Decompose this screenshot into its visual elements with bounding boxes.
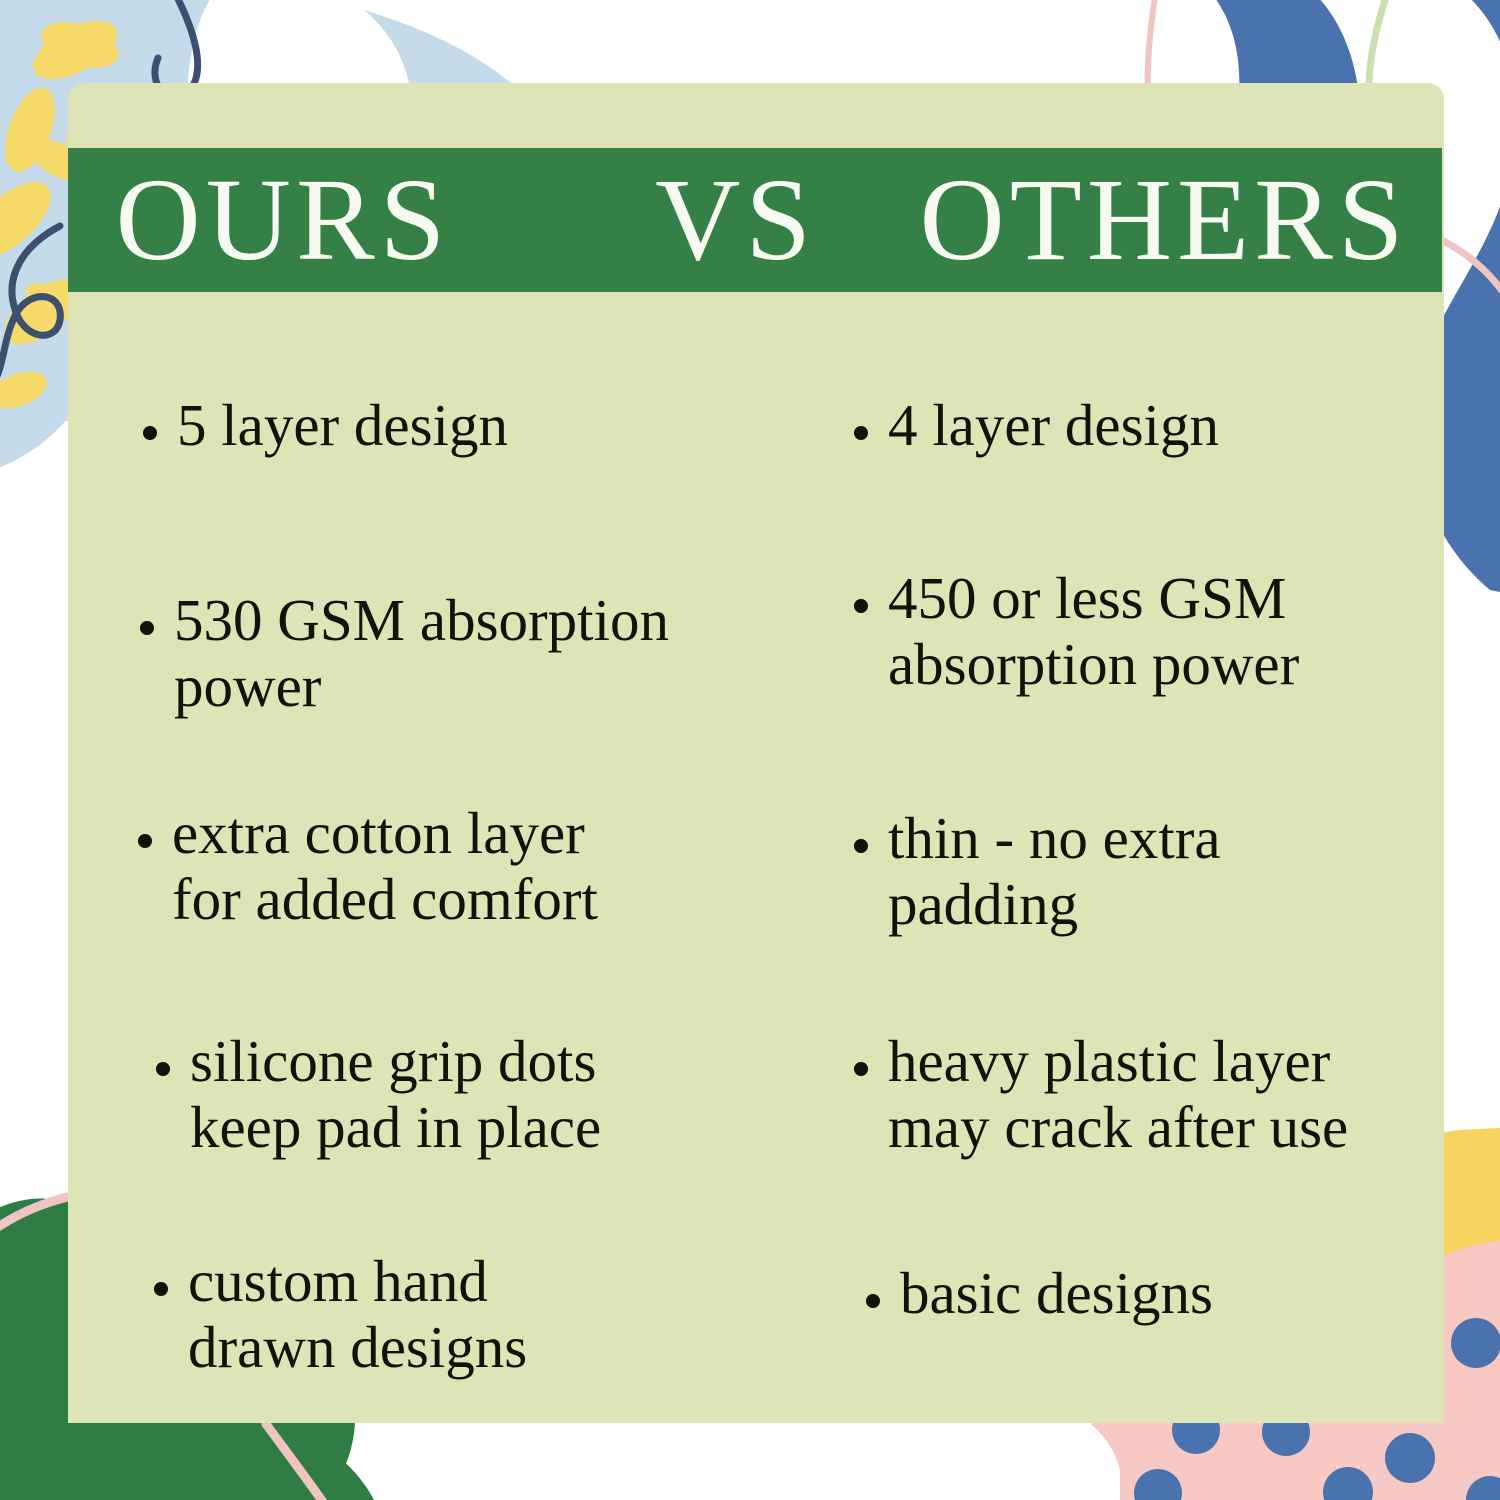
- bullet-dot-icon: [854, 1062, 868, 1076]
- list-item: custom hand drawn designs: [154, 1248, 754, 1380]
- list-item-label: extra cotton layer for added comfort: [172, 800, 598, 932]
- header-bar: OURS VS OTHERS: [68, 148, 1442, 292]
- list-item: silicone grip dots keep pad in place: [156, 1028, 756, 1160]
- list-item: 4 layer design: [854, 392, 1474, 458]
- list-item-label: thin - no extra padding: [888, 805, 1221, 937]
- list-item-label: 450 or less GSM absorption power: [888, 565, 1299, 697]
- comparison-columns: 5 layer design 530 GSM absorption power …: [68, 300, 1444, 1423]
- list-item: 450 or less GSM absorption power: [854, 565, 1474, 697]
- bullet-dot-icon: [866, 1294, 880, 1308]
- others-column: 4 layer design 450 or less GSM absorptio…: [756, 300, 1444, 1423]
- list-item: 5 layer design: [143, 392, 743, 458]
- bottom-right-blue-dot-4-icon: [1385, 1433, 1435, 1483]
- list-item: extra cotton layer for added comfort: [138, 800, 738, 932]
- list-item-label: 4 layer design: [888, 392, 1219, 458]
- list-item-label: 530 GSM absorption power: [174, 587, 669, 719]
- bullet-dot-icon: [854, 599, 868, 613]
- bullet-dot-icon: [156, 1062, 170, 1076]
- list-item-label: silicone grip dots keep pad in place: [190, 1028, 601, 1160]
- list-item-label: basic designs: [900, 1260, 1213, 1326]
- bullet-dot-icon: [854, 426, 868, 440]
- bullet-dot-icon: [138, 834, 152, 848]
- bullet-dot-icon: [140, 621, 154, 635]
- list-item: basic designs: [866, 1260, 1486, 1326]
- list-item: heavy plastic layer may crack after use: [854, 1028, 1474, 1160]
- list-item-label: custom hand drawn designs: [188, 1248, 527, 1380]
- list-item: 530 GSM absorption power: [140, 587, 740, 719]
- list-item-label: 5 layer design: [177, 392, 508, 458]
- page-title: OURS VS OTHERS: [68, 161, 1442, 279]
- ours-column: 5 layer design 530 GSM absorption power …: [68, 300, 756, 1423]
- list-item: thin - no extra padding: [854, 805, 1474, 937]
- list-item-label: heavy plastic layer may crack after use: [888, 1028, 1348, 1160]
- bullet-dot-icon: [854, 839, 868, 853]
- bullet-dot-icon: [143, 426, 157, 440]
- infographic-canvas: OURS VS OTHERS 5 layer design 530 GSM ab…: [0, 0, 1500, 1500]
- bullet-dot-icon: [154, 1282, 168, 1296]
